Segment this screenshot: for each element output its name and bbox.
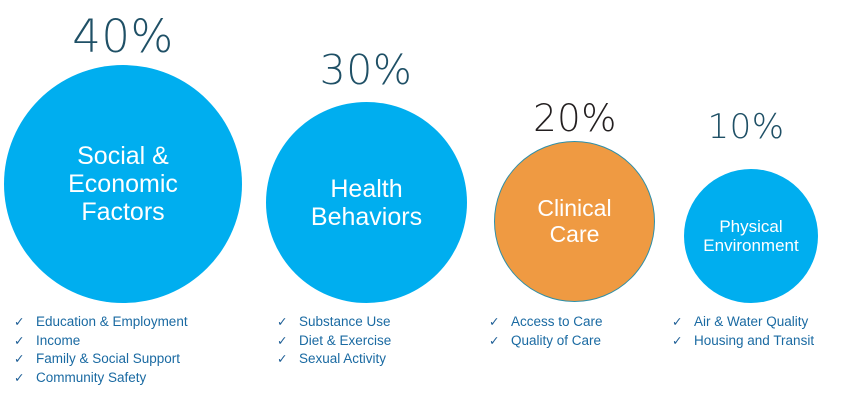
determinant-social-economic-factors: 40% Social & Economic Factors ✓ Educatio… (0, 0, 250, 400)
list-item[interactable]: ✓ Access to Care (489, 313, 664, 332)
determinant-physical-environment: 10% Physical Environment ✓ Air & Water Q… (684, 0, 864, 400)
list-item-label: Education & Employment (36, 313, 188, 332)
list-item-label: Access to Care (511, 313, 603, 332)
list-item[interactable]: ✓ Family & Social Support (14, 350, 254, 369)
percent-label-health-behaviors: 30% (306, 50, 426, 91)
list-item[interactable]: ✓ Quality of Care (489, 332, 664, 351)
checklist-physical-environment: ✓ Air & Water Quality ✓ Housing and Tran… (672, 313, 862, 350)
list-item-label: Diet & Exercise (299, 332, 391, 351)
list-item[interactable]: ✓ Community Safety (14, 369, 254, 388)
check-icon: ✓ (14, 369, 36, 388)
checklist-health-behaviors: ✓ Substance Use ✓ Diet & Exercise ✓ Sexu… (277, 313, 487, 369)
list-item-label: Air & Water Quality (694, 313, 808, 332)
list-item-label: Sexual Activity (299, 350, 386, 369)
check-icon: ✓ (14, 313, 36, 332)
bubble-health-behaviors[interactable]: Health Behaviors (266, 102, 467, 303)
check-icon: ✓ (14, 332, 36, 351)
checklist-social-economic-factors: ✓ Education & Employment ✓ Income ✓ Fami… (14, 313, 254, 387)
checklist-clinical-care: ✓ Access to Care ✓ Quality of Care (489, 313, 664, 350)
list-item-label: Housing and Transit (694, 332, 814, 351)
check-icon: ✓ (489, 332, 511, 351)
percent-label-physical-environment: 10% (691, 110, 801, 144)
list-item[interactable]: ✓ Income (14, 332, 254, 351)
bubble-label-social-economic-factors: Social & Economic Factors (62, 142, 184, 226)
list-item-label: Family & Social Support (36, 350, 180, 369)
list-item-label: Community Safety (36, 369, 146, 388)
check-icon: ✓ (277, 313, 299, 332)
infographic-canvas: 40% Social & Economic Factors ✓ Educatio… (0, 0, 864, 400)
list-item[interactable]: ✓ Education & Employment (14, 313, 254, 332)
percent-label-clinical-care: 20% (515, 100, 635, 137)
check-icon: ✓ (489, 313, 511, 332)
bubble-social-economic-factors[interactable]: Social & Economic Factors (4, 65, 242, 303)
bubble-label-health-behaviors: Health Behaviors (305, 175, 428, 231)
determinant-clinical-care: 20% Clinical Care ✓ Access to Care ✓ Qua… (494, 0, 669, 400)
check-icon: ✓ (672, 313, 694, 332)
list-item[interactable]: ✓ Diet & Exercise (277, 332, 487, 351)
determinant-health-behaviors: 30% Health Behaviors ✓ Substance Use ✓ D… (266, 0, 476, 400)
bubble-label-physical-environment: Physical Environment (697, 217, 804, 255)
list-item[interactable]: ✓ Housing and Transit (672, 332, 862, 351)
list-item-label: Income (36, 332, 80, 351)
bubble-clinical-care[interactable]: Clinical Care (494, 141, 655, 302)
check-icon: ✓ (14, 350, 36, 369)
bubble-physical-environment[interactable]: Physical Environment (684, 169, 818, 303)
list-item[interactable]: ✓ Air & Water Quality (672, 313, 862, 332)
list-item-label: Substance Use (299, 313, 391, 332)
bubble-label-clinical-care: Clinical Care (531, 196, 617, 248)
list-item[interactable]: ✓ Sexual Activity (277, 350, 487, 369)
percent-label-social-economic-factors: 40% (63, 14, 183, 59)
check-icon: ✓ (672, 332, 694, 351)
check-icon: ✓ (277, 350, 299, 369)
list-item-label: Quality of Care (511, 332, 601, 351)
list-item[interactable]: ✓ Substance Use (277, 313, 487, 332)
check-icon: ✓ (277, 332, 299, 351)
